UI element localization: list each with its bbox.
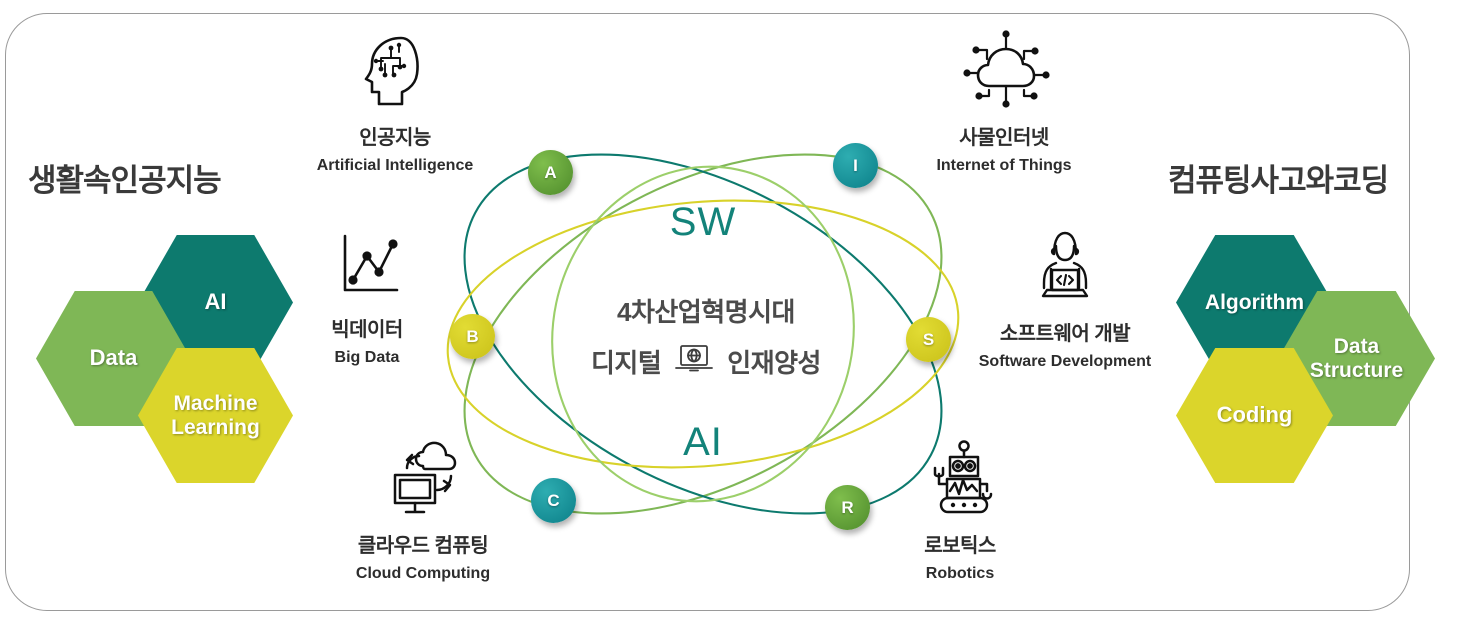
badge-i[interactable]: I (833, 143, 878, 188)
ml-line-1: Machine (173, 392, 257, 415)
hexagon-algorithm-label: Algorithm (1205, 291, 1304, 315)
developer-laptop-icon (960, 222, 1170, 308)
badge-a[interactable]: A (528, 150, 573, 195)
cloud-network-icon (899, 26, 1109, 112)
ds-line-1: Data (1334, 335, 1380, 358)
satellite-cloud-en: Cloud Computing (318, 565, 528, 583)
ds-line-2: Structure (1310, 359, 1403, 382)
satellite-software-development: 소프트웨어 개발 Software Development (960, 222, 1170, 371)
laptop-globe-icon (673, 343, 715, 380)
page-title-right: 컴퓨팅사고와코딩 (1168, 155, 1388, 200)
satellite-swdev-en: Software Development (960, 353, 1170, 371)
core-label-sw: SW (603, 200, 803, 245)
core-message: 4차산업혁명시대 디지털 인재양성 (521, 292, 891, 380)
hexagon-data-label: Data (90, 346, 138, 371)
hexagon-machine-learning-label: Machine Learning (171, 392, 260, 439)
badge-s-letter: S (923, 330, 934, 350)
core-message-line-2-left: 디지털 (591, 343, 661, 380)
satellite-swdev-ko: 소프트웨어 개발 (960, 317, 1170, 346)
core-message-line-2: 디지털 인재양성 (521, 343, 891, 380)
core-message-line-2-right: 인재양성 (727, 343, 821, 380)
badge-c[interactable]: C (531, 478, 576, 523)
satellite-robotics-en: Robotics (855, 565, 1065, 583)
core-label-ai: AI (603, 420, 803, 465)
hexagon-coding-label: Coding (1217, 403, 1293, 428)
ml-line-2: Learning (171, 416, 260, 439)
badge-r[interactable]: R (825, 485, 870, 530)
hexagon-ai-label: AI (205, 290, 227, 315)
badge-b-letter: B (466, 327, 478, 347)
badge-s[interactable]: S (906, 317, 951, 362)
page-title-left: 생활속인공지능 (28, 155, 221, 200)
badge-b[interactable]: B (450, 314, 495, 359)
badge-i-letter: I (853, 156, 858, 176)
head-circuit-icon (290, 26, 500, 112)
badge-r-letter: R (841, 498, 853, 518)
core-message-line-1: 4차산업혁명시대 (521, 292, 891, 329)
badge-a-letter: A (544, 163, 556, 183)
badge-c-letter: C (547, 491, 559, 511)
hexagon-data-structure-label: Data Structure (1310, 335, 1403, 382)
